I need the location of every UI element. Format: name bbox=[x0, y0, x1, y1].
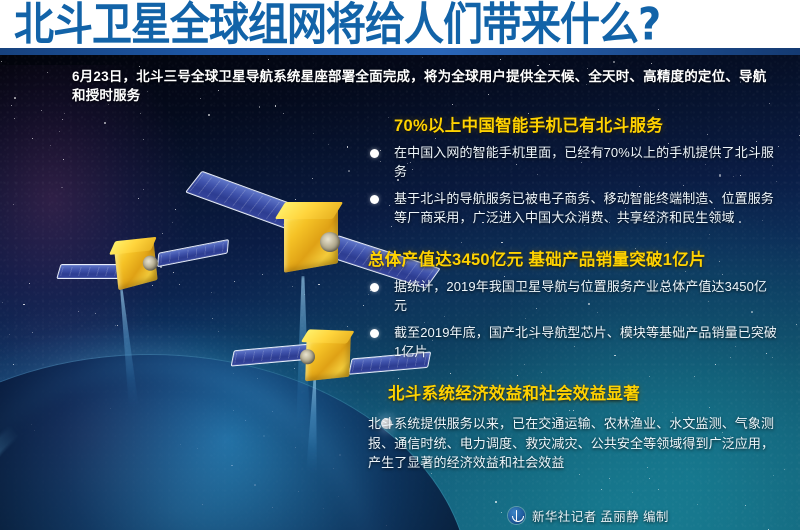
list-item: 据统计，2019年我国卫星导航与位置服务产业总体产值达3450亿元 bbox=[368, 278, 780, 315]
bullet-dot-icon bbox=[370, 195, 379, 204]
section-3-heading: 北斗系统经济效益和社会效益显著 bbox=[388, 383, 780, 405]
section-1-heading: 70%以上中国智能手机已有北斗服务 bbox=[394, 115, 780, 137]
section-2: 总体产值达3450亿元 基础产品销量突破1亿片 据统计，2019年我国卫星导航与… bbox=[368, 249, 780, 361]
list-item-text: 基于北斗的导航服务已被电子商务、移动智能终端制造、位置服务等厂商采用，广泛进入中… bbox=[394, 191, 774, 225]
section-3: 北斗系统经济效益和社会效益显著 北斗系统提供服务以来，已在交通运输、农林渔业、水… bbox=[368, 383, 780, 473]
bullet-dot-icon bbox=[370, 149, 379, 158]
section-2-heading: 总体产值达3450亿元 基础产品销量突破1亿片 bbox=[368, 249, 780, 271]
page-title: 北斗卫星全球组网将给人们带来什么? bbox=[14, 0, 660, 52]
section-1-bullets: 在中国入网的智能手机里面，已经有70%以上的手机提供了北斗服务 基于北斗的导航服… bbox=[368, 144, 780, 227]
text-column: 70%以上中国智能手机已有北斗服务 在中国入网的智能手机里面，已经有70%以上的… bbox=[368, 115, 780, 473]
credit-text: 新华社记者 孟丽静 编制 bbox=[532, 506, 669, 525]
list-item: 在中国入网的智能手机里面，已经有70%以上的手机提供了北斗服务 bbox=[368, 144, 780, 181]
section-3-paragraph: 北斗系统提供服务以来，已在交通运输、农林渔业、水文监测、气象测报、通信时统、电力… bbox=[368, 414, 780, 473]
bullet-dot-icon bbox=[370, 283, 379, 292]
title-divider bbox=[0, 48, 800, 55]
bullet-dot-icon bbox=[370, 329, 379, 338]
title-bar: 北斗卫星全球组网将给人们带来什么? bbox=[0, 0, 800, 48]
content-layer: 6月23日，北斗三号全球卫星导航系统星座部署全面完成，将为全球用户提供全天候、全… bbox=[0, 55, 800, 530]
section-1: 70%以上中国智能手机已有北斗服务 在中国入网的智能手机里面，已经有70%以上的… bbox=[368, 115, 780, 227]
section-2-bullets: 据统计，2019年我国卫星导航与位置服务产业总体产值达3450亿元 截至2019… bbox=[368, 278, 780, 361]
xinhua-logo-icon bbox=[508, 507, 525, 524]
footer-credit: 新华社记者 孟丽静 编制 bbox=[508, 505, 669, 525]
intro-paragraph: 6月23日，北斗三号全球卫星导航系统星座部署全面完成，将为全球用户提供全天候、全… bbox=[72, 67, 772, 105]
list-item: 基于北斗的导航服务已被电子商务、移动智能终端制造、位置服务等厂商采用，广泛进入中… bbox=[368, 190, 780, 227]
list-item-text: 截至2019年底，国产北斗导航型芯片、模块等基础产品销量已突破1亿片 bbox=[394, 325, 777, 359]
infographic-poster: 北斗卫星全球组网将给人们带来什么? 6月23日，北斗三号全球卫星导航系统星座部署… bbox=[0, 0, 800, 530]
list-item: 截至2019年底，国产北斗导航型芯片、模块等基础产品销量已突破1亿片 bbox=[368, 324, 780, 361]
list-item-text: 据统计，2019年我国卫星导航与位置服务产业总体产值达3450亿元 bbox=[394, 279, 767, 313]
list-item-text: 在中国入网的智能手机里面，已经有70%以上的手机提供了北斗服务 bbox=[394, 145, 774, 179]
